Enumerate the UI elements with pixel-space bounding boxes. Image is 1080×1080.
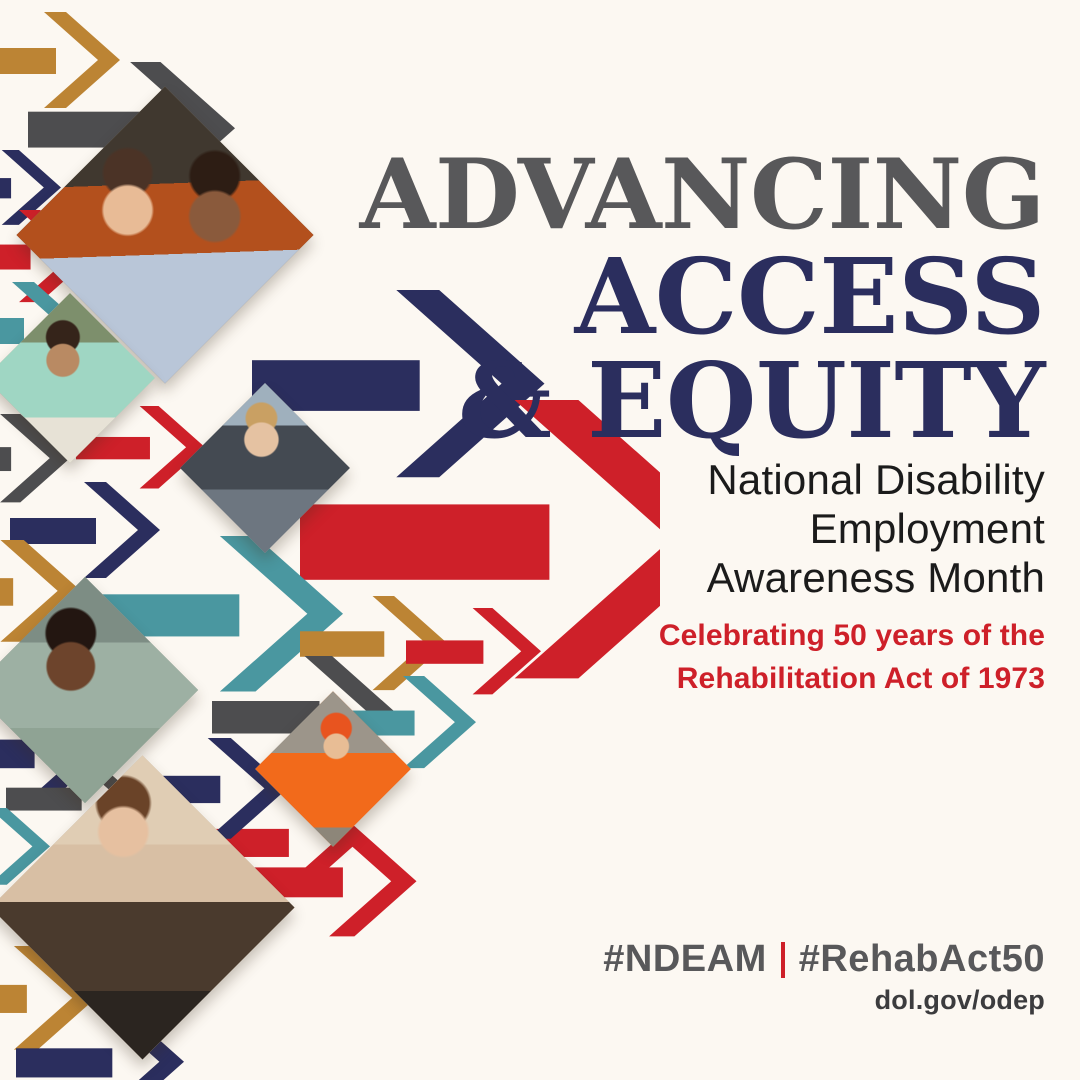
anniversary-tagline: Celebrating 50 years of the Rehabilitati…	[659, 615, 1045, 700]
ndeam-poster: ADVANCING ACCESS & EQUITY National Disab…	[0, 0, 1080, 1080]
hashtag-ndeam[interactable]: #NDEAM	[603, 938, 766, 981]
subtitle-line-3: Awareness Month	[707, 553, 1045, 602]
headline-line-2: ACCESS	[575, 248, 1045, 346]
vertical-divider	[781, 942, 785, 978]
tagline-line-1: Celebrating 50 years of the	[659, 615, 1045, 658]
subtitle: National Disability Employment Awareness…	[707, 455, 1045, 602]
tagline-line-2: Rehabilitation Act of 1973	[659, 658, 1045, 701]
headline-line-1: ADVANCING	[360, 150, 1045, 240]
copy-column: ADVANCING ACCESS & EQUITY National Disab…	[445, 0, 1045, 1080]
website-url[interactable]: dol.gov/odep	[603, 985, 1045, 1016]
subtitle-line-2: Employment	[707, 504, 1045, 553]
footer: #NDEAM #RehabAct50 dol.gov/odep	[603, 938, 1045, 1016]
hashtag-rehabact50[interactable]: #RehabAct50	[799, 938, 1045, 981]
headline-line-3: & EQUITY	[458, 352, 1045, 450]
hashtag-row: #NDEAM #RehabAct50	[603, 938, 1045, 981]
subtitle-line-1: National Disability	[707, 455, 1045, 504]
